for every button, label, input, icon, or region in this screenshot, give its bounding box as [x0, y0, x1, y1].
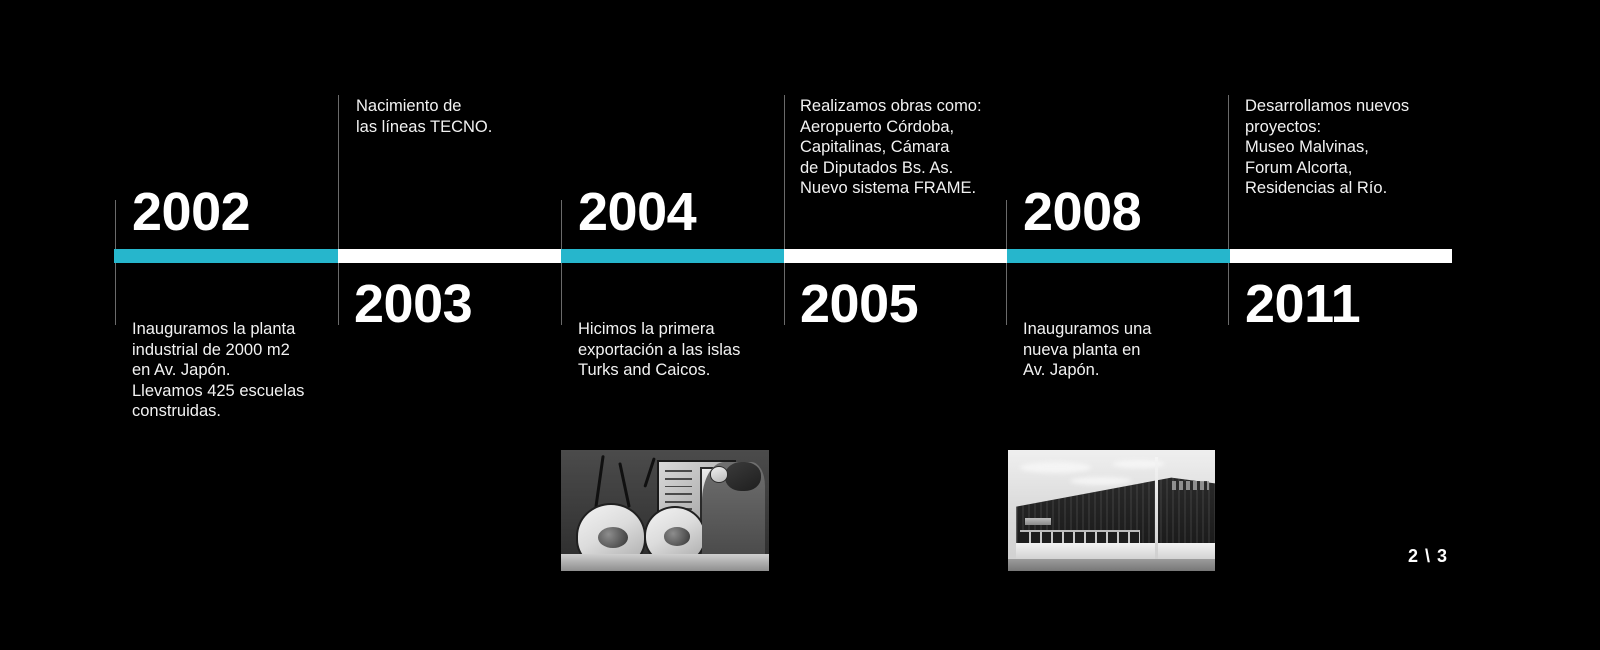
note-2011: Desarrollamos nuevos proyectos: Museo Ma… — [1245, 96, 1460, 199]
bar-segment-6 — [1230, 249, 1452, 263]
bar-segment-3 — [561, 249, 784, 263]
year-2011: 2011 — [1245, 277, 1360, 331]
timeline-slide: 2002 2003 2004 2005 2008 2011 Inauguramo… — [0, 0, 1600, 650]
bar-segment-2 — [338, 249, 561, 263]
year-2004: 2004 — [578, 185, 696, 239]
note-2002: Inauguramos la planta industrial de 2000… — [132, 319, 342, 422]
year-2005: 2005 — [800, 277, 918, 331]
page-indicator: 2 \ 3 — [1408, 546, 1448, 567]
note-2003: Nacimiento de las líneas TECNO. — [356, 96, 566, 137]
year-2008: 2008 — [1023, 185, 1141, 239]
worker-grinding-machines-photo — [561, 450, 769, 571]
note-2004: Hicimos la primera exportación a las isl… — [578, 319, 793, 381]
column-divider-4 — [784, 95, 785, 325]
bar-segment-4 — [784, 249, 1007, 263]
bar-segment-1 — [114, 249, 338, 263]
timeline-bar — [114, 249, 1452, 263]
bar-segment-5 — [1007, 249, 1230, 263]
year-2002: 2002 — [132, 185, 250, 239]
industrial-plant-building-photo — [1008, 450, 1215, 571]
note-2008: Inauguramos una nueva planta en Av. Japó… — [1023, 319, 1228, 381]
note-2005: Realizamos obras como: Aeropuerto Córdob… — [800, 96, 1015, 199]
column-divider-6 — [1228, 95, 1229, 325]
column-divider-2 — [338, 95, 339, 325]
year-2003: 2003 — [354, 277, 472, 331]
